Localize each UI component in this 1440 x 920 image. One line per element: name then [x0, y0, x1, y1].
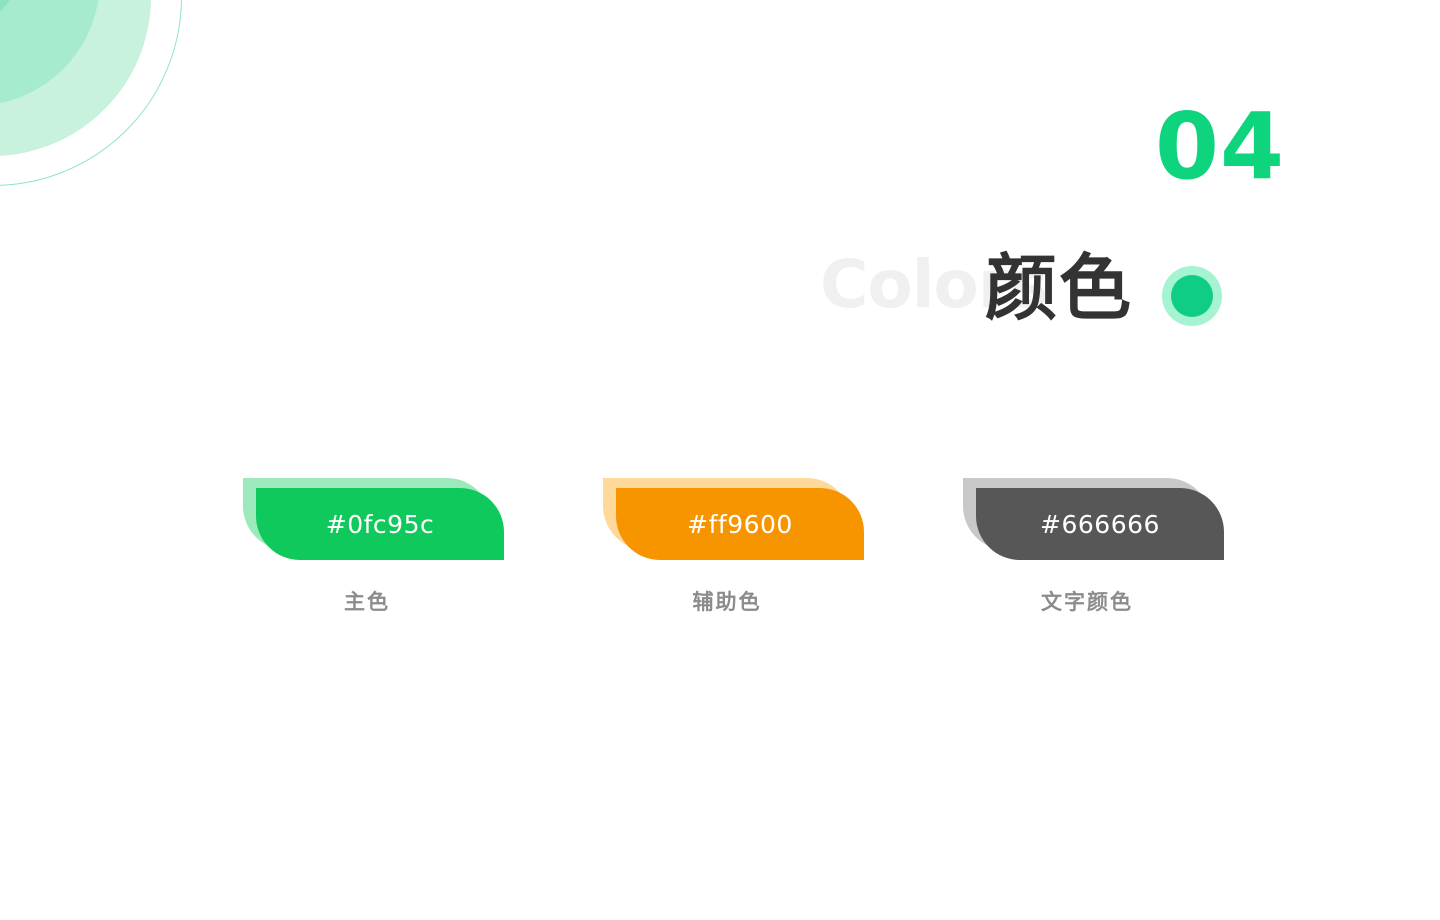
color-swatch-text[interactable]: #666666 文字颜色	[963, 478, 1211, 616]
swatch-hex-value: #0fc95c	[326, 510, 434, 539]
swatch-label: 辅助色	[603, 586, 851, 616]
swatch-label: 主色	[243, 586, 491, 616]
leaf-shape: #ff9600	[603, 478, 851, 560]
decorative-rings	[0, 0, 420, 440]
page-title: 颜色	[985, 246, 1133, 331]
ring-pale-icon	[0, 0, 151, 156]
slide-canvas: 04 Colors 颜色 #0fc95c 主色 #ff9600 辅助色	[0, 0, 1440, 920]
section-heading: Colors 颜色	[820, 240, 1260, 370]
color-swatch-row: #0fc95c 主色 #ff9600 辅助色 #666666 文字颜色	[243, 478, 1243, 616]
leaf-front-layer: #0fc95c	[256, 488, 504, 560]
color-swatch-secondary[interactable]: #ff9600 辅助色	[603, 478, 851, 616]
ring-mid-icon	[0, 0, 100, 106]
accent-dot-icon	[1162, 266, 1222, 326]
swatch-label: 文字颜色	[963, 586, 1211, 616]
leaf-front-layer: #666666	[976, 488, 1224, 560]
leaf-shape: #666666	[963, 478, 1211, 560]
swatch-hex-value: #ff9600	[687, 510, 793, 539]
ring-outline-icon	[0, 0, 182, 186]
ring-deep-icon	[0, 0, 26, 34]
swatch-hex-value: #666666	[1040, 510, 1160, 539]
section-number: 04	[1155, 101, 1285, 193]
leaf-shape: #0fc95c	[243, 478, 491, 560]
leaf-front-layer: #ff9600	[616, 488, 864, 560]
color-swatch-primary[interactable]: #0fc95c 主色	[243, 478, 491, 616]
